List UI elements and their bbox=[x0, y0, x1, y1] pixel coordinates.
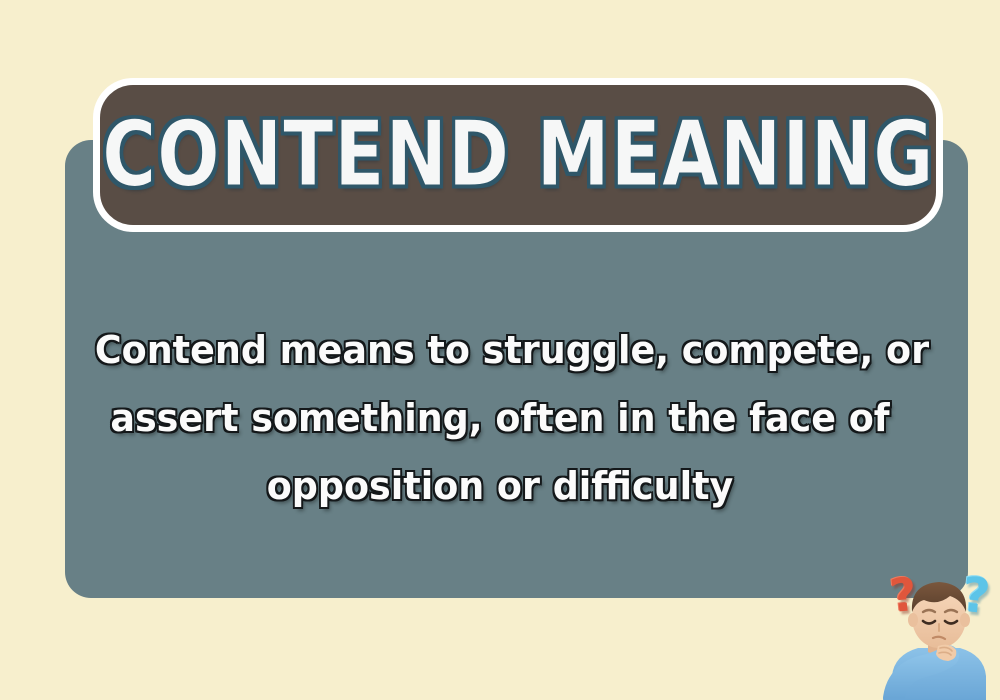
page-title: CONTEND MEANING bbox=[102, 110, 934, 200]
poster-canvas: CONTEND MEANING Contend means to struggl… bbox=[0, 0, 1000, 700]
definition-line-2: assert something, often in the face of bbox=[95, 384, 905, 452]
definition-text: Contend means to struggle, compete, or a… bbox=[95, 316, 905, 520]
definition-line-3: opposition or difficulty bbox=[95, 452, 905, 520]
thinking-person-illustration: ? ? bbox=[878, 560, 1000, 700]
definition-line-1: Contend means to struggle, compete, or bbox=[95, 316, 905, 384]
title-banner: CONTEND MEANING bbox=[93, 78, 943, 232]
person-figure-icon bbox=[878, 560, 1000, 700]
